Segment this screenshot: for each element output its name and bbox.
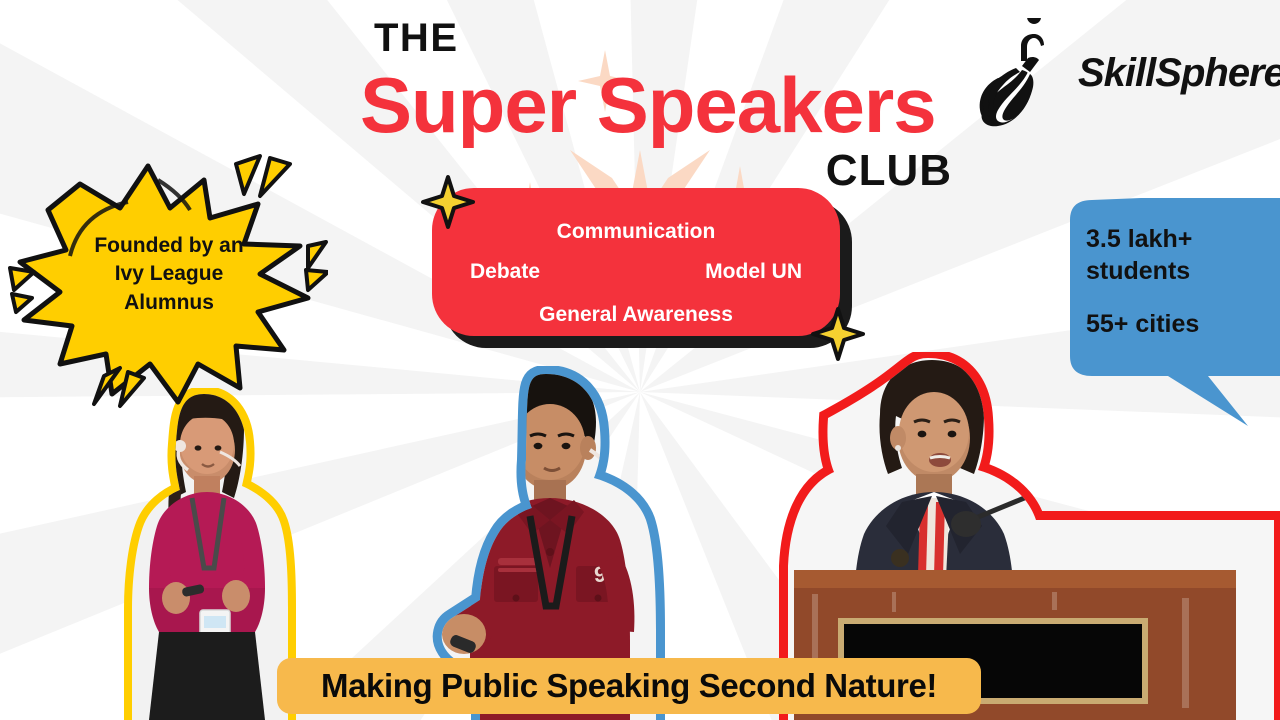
skillsphere-logo[interactable]: SkillSphere [972,14,1272,132]
stats-bubble-text: 3.5 lakh+ students 55+ cities [1086,224,1271,341]
student-girl-magenta-top-photo [108,388,298,720]
founder-badge: Founded by an Ivy League Alumnus [8,150,328,410]
headline-block: THE Super Speakers CLUB [360,8,960,193]
topic-model-un: Model UN [705,260,802,284]
topic-debate: Debate [470,260,540,284]
topics-pill: Communication Debate Model UN General Aw… [432,188,852,348]
poster-canvas: THE Super Speakers CLUB SkillSphere [0,0,1280,720]
topic-row-middle: Debate Model UN [432,260,840,284]
headline-the: THE [374,18,960,58]
topic-general-awareness: General Awareness [432,303,840,327]
skillsphere-figure-on-globe-icon [972,18,1072,128]
tagline-banner: Making Public Speaking Second Nature! [277,658,981,714]
topic-communication: Communication [432,220,840,244]
pill-body: Communication Debate Model UN General Aw… [432,188,840,336]
founder-badge-text: Founded by an Ivy League Alumnus [66,232,272,317]
tagline-text: Making Public Speaking Second Nature! [321,667,937,705]
stat-cities: 55+ cities [1086,310,1199,338]
stat-students: 3.5 lakh+ students [1086,225,1192,285]
stats-speech-bubble: 3.5 lakh+ students 55+ cities [1048,198,1280,426]
headline-super-speakers: Super Speakers [360,64,960,147]
spacer [1086,287,1271,309]
four-point-star-icon [810,306,866,362]
four-point-star-icon [420,174,476,230]
brand-name: SkillSphere [1078,51,1280,96]
